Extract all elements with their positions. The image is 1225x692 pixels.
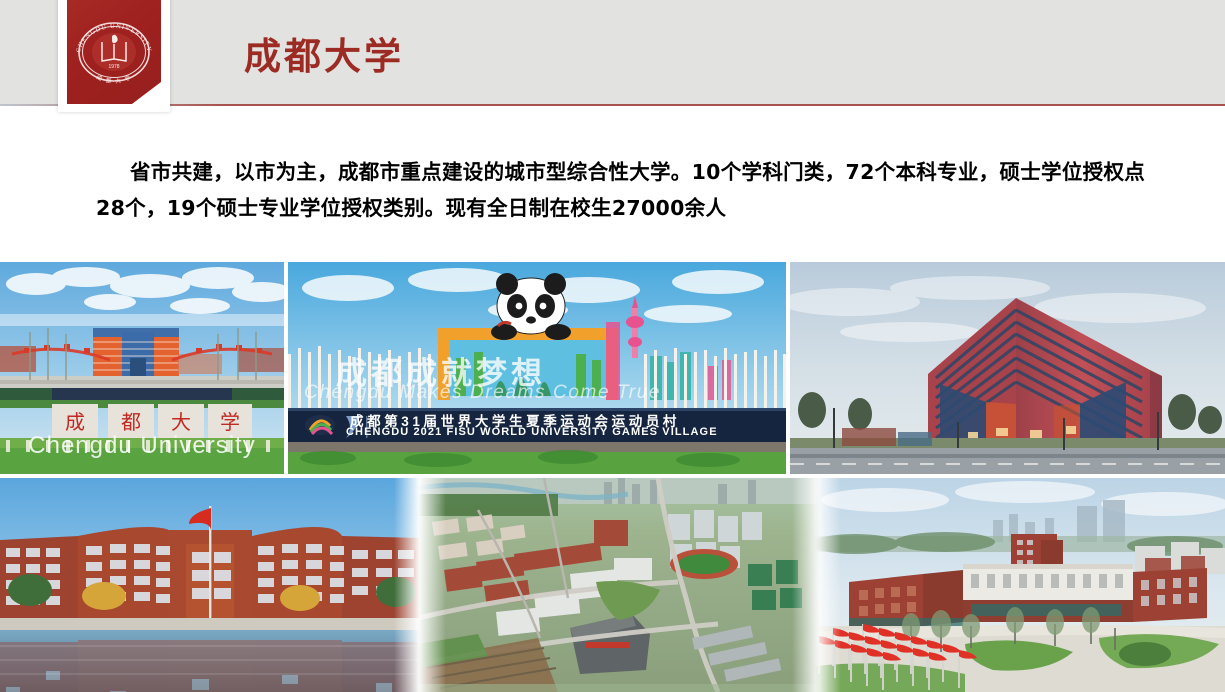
photo-red-blue-building[interactable] [790, 262, 1225, 474]
photo-gallery: 成 都 大 学 Chengdu University [0, 262, 1225, 692]
intro-paragraph: 省市共建，以市为主，成都市重点建设的城市型综合性大学。10个学科门类，72个本科… [96, 154, 1156, 227]
photo-campus-aerial-view[interactable] [418, 478, 820, 692]
photo-fisu-games-village[interactable]: 成都成就梦想 Chengdu Makes Dreams Come True 成都… [288, 262, 786, 474]
svg-text:都: 都 [121, 410, 141, 434]
photo-new-campus-flags[interactable] [815, 478, 1225, 692]
svg-text:学: 学 [220, 410, 240, 434]
page-title: 成都大学 [244, 26, 404, 80]
university-seal-icon: CHENGDU UNIVERSITY 成 都 大 学 1978 [72, 16, 156, 88]
photo-brick-building-reflection[interactable] [0, 478, 420, 692]
photo-campus-main-gate[interactable]: 成 都 大 学 Chengdu University [0, 262, 284, 474]
svg-text:成: 成 [65, 410, 85, 434]
svg-text:大: 大 [171, 410, 191, 434]
header-band [0, 0, 1225, 106]
slide-root: CHENGDU UNIVERSITY 成 都 大 学 1978 成都大学 省市共… [0, 0, 1225, 692]
header-divider-rule [0, 104, 1225, 106]
svg-text:1978: 1978 [108, 64, 119, 70]
